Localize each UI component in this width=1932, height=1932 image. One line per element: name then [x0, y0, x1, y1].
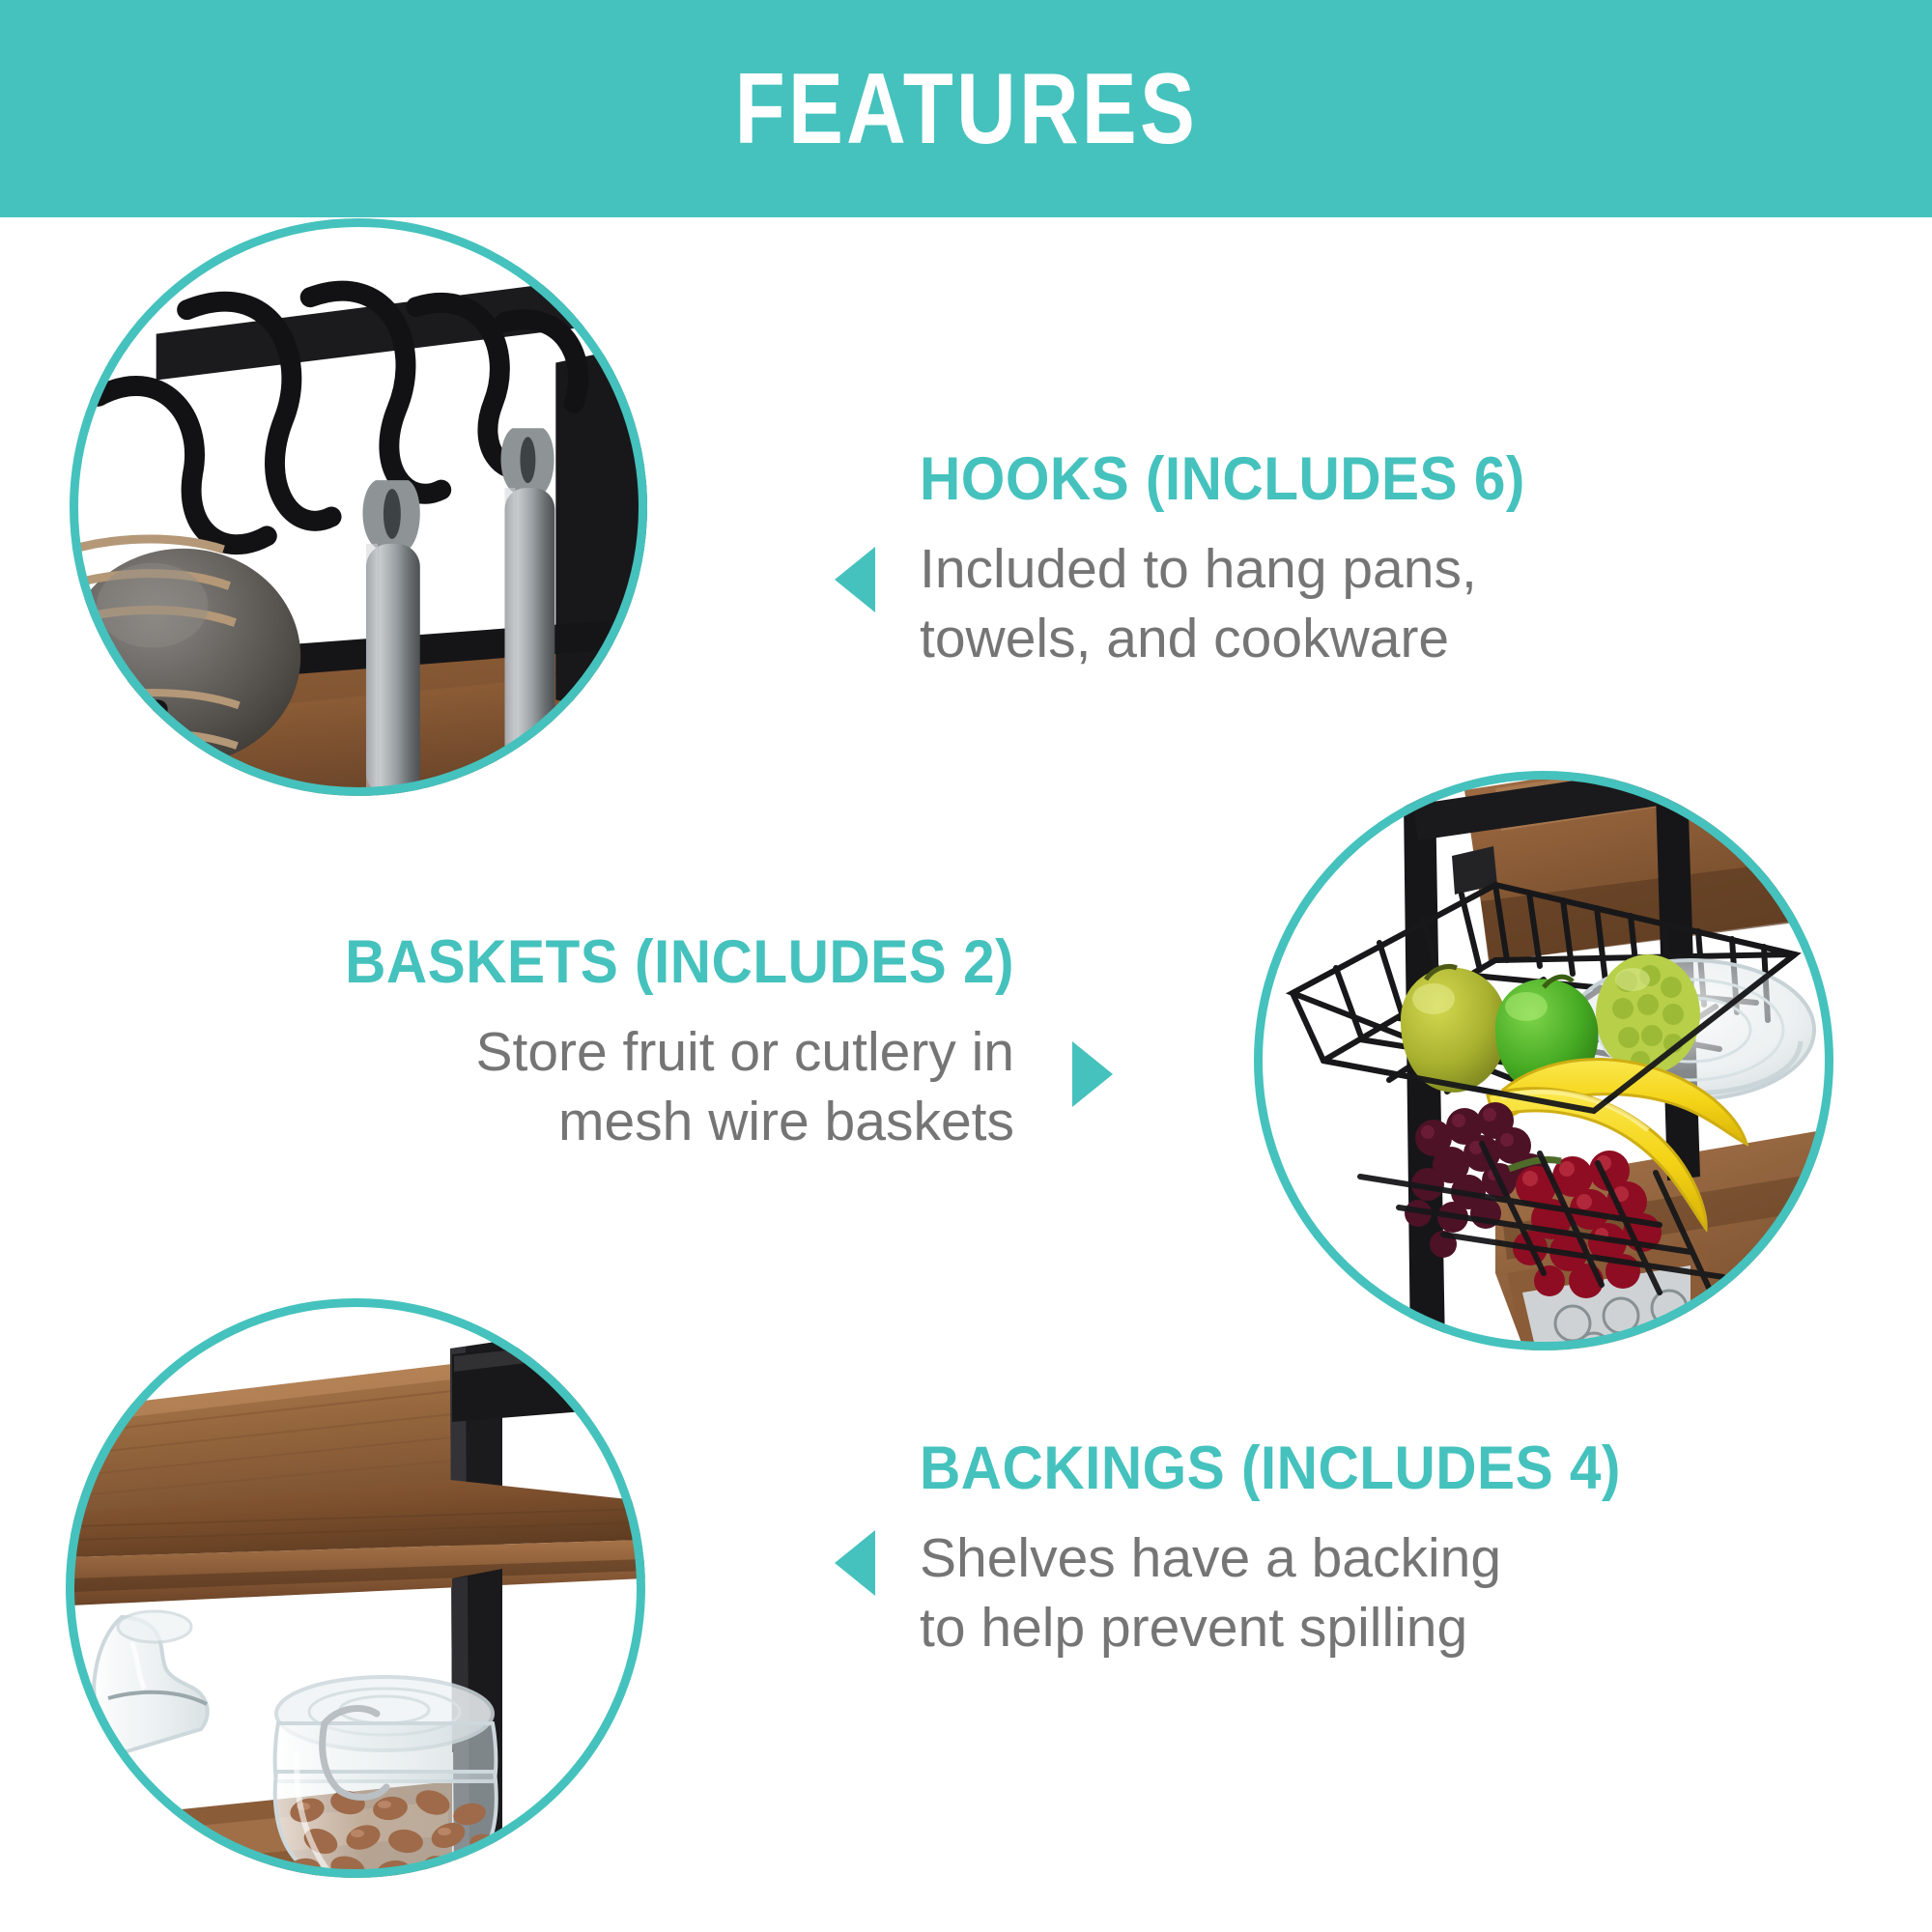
- features-header-banner: FEATURES: [0, 0, 1932, 217]
- hooks-photo: [70, 218, 647, 796]
- hooks-marker-triangle-left-icon: [835, 547, 875, 612]
- backings-description-line-2: to help prevent spilling: [920, 1594, 1905, 1663]
- baskets-description-line-2: mesh wire baskets: [39, 1088, 1014, 1157]
- baskets-description: Store fruit or cutlery in mesh wire bask…: [39, 1018, 1014, 1157]
- baskets-photo: [1254, 771, 1833, 1350]
- hooks-title: HOOKS (INCLUDES 6): [920, 446, 1818, 512]
- baskets-text-block: BASKETS (INCLUDES 2) Store fruit or cutl…: [39, 929, 1014, 1157]
- backings-title: BACKINGS (INCLUDES 4): [920, 1435, 1836, 1501]
- backings-description-line-1: Shelves have a backing: [920, 1524, 1905, 1594]
- hooks-description: Included to hang pans, towels, and cookw…: [920, 535, 1886, 674]
- backings-description: Shelves have a backing to help prevent s…: [920, 1524, 1905, 1663]
- backings-text-block: BACKINGS (INCLUDES 4) Shelves have a bac…: [920, 1435, 1905, 1663]
- hooks-text-block: HOOKS (INCLUDES 6) Included to hang pans…: [920, 446, 1886, 674]
- backings-marker-triangle-left-icon: [835, 1530, 875, 1596]
- backings-photo: [66, 1298, 645, 1878]
- page-title: FEATURES: [734, 59, 1198, 159]
- hooks-description-line-2: towels, and cookware: [920, 605, 1886, 674]
- baskets-title: BASKETS (INCLUDES 2): [107, 929, 1014, 995]
- hooks-description-line-1: Included to hang pans,: [920, 535, 1886, 605]
- baskets-description-line-1: Store fruit or cutlery in: [39, 1018, 1014, 1088]
- baskets-marker-triangle-right-icon: [1072, 1041, 1113, 1107]
